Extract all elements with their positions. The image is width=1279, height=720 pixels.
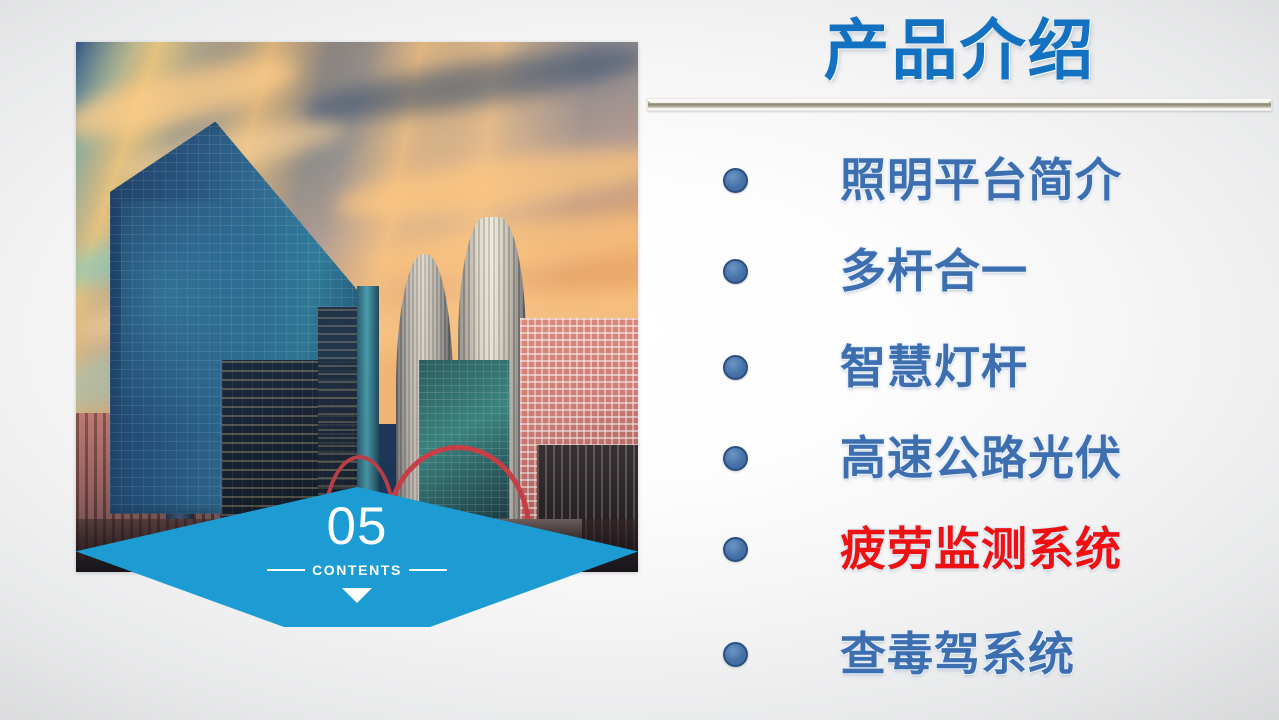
bullet-icon <box>723 446 748 471</box>
agenda-item-label: 照明平台简介 <box>840 157 1122 203</box>
bullet-icon <box>723 168 748 193</box>
bullet-icon <box>723 642 748 667</box>
agenda-item-label: 智慧灯杆 <box>840 344 1028 390</box>
bullet-icon <box>723 259 748 284</box>
page-title: 产品介绍 <box>640 12 1279 90</box>
list-item[interactable]: 多杆合一 <box>640 247 1279 295</box>
list-item[interactable]: 查毒驾系统 <box>640 630 1279 678</box>
agenda-item-label: 查毒驾系统 <box>840 631 1075 677</box>
agenda-list: 照明平台简介 多杆合一 智慧灯杆 高速公路光伏 疲劳监测系统 查毒驾系统 <box>640 130 1279 710</box>
presentation-slide: 05 CONTENTS 产品介绍 照明平台简介 多杆合一 智慧灯杆 高速公路光伏 <box>0 0 1279 720</box>
list-item[interactable]: 高速公路光伏 <box>640 434 1279 482</box>
bullet-icon <box>723 355 748 380</box>
bullet-icon <box>723 537 748 562</box>
list-item[interactable]: 智慧灯杆 <box>640 343 1279 391</box>
title-divider <box>647 98 1272 111</box>
agenda-item-label: 疲劳监测系统 <box>840 526 1122 572</box>
agenda-item-label: 高速公路光伏 <box>840 435 1122 481</box>
agenda-item-label: 多杆合一 <box>840 248 1028 294</box>
list-item[interactable]: 照明平台简介 <box>640 156 1279 204</box>
list-item[interactable]: 疲劳监测系统 <box>640 525 1279 573</box>
